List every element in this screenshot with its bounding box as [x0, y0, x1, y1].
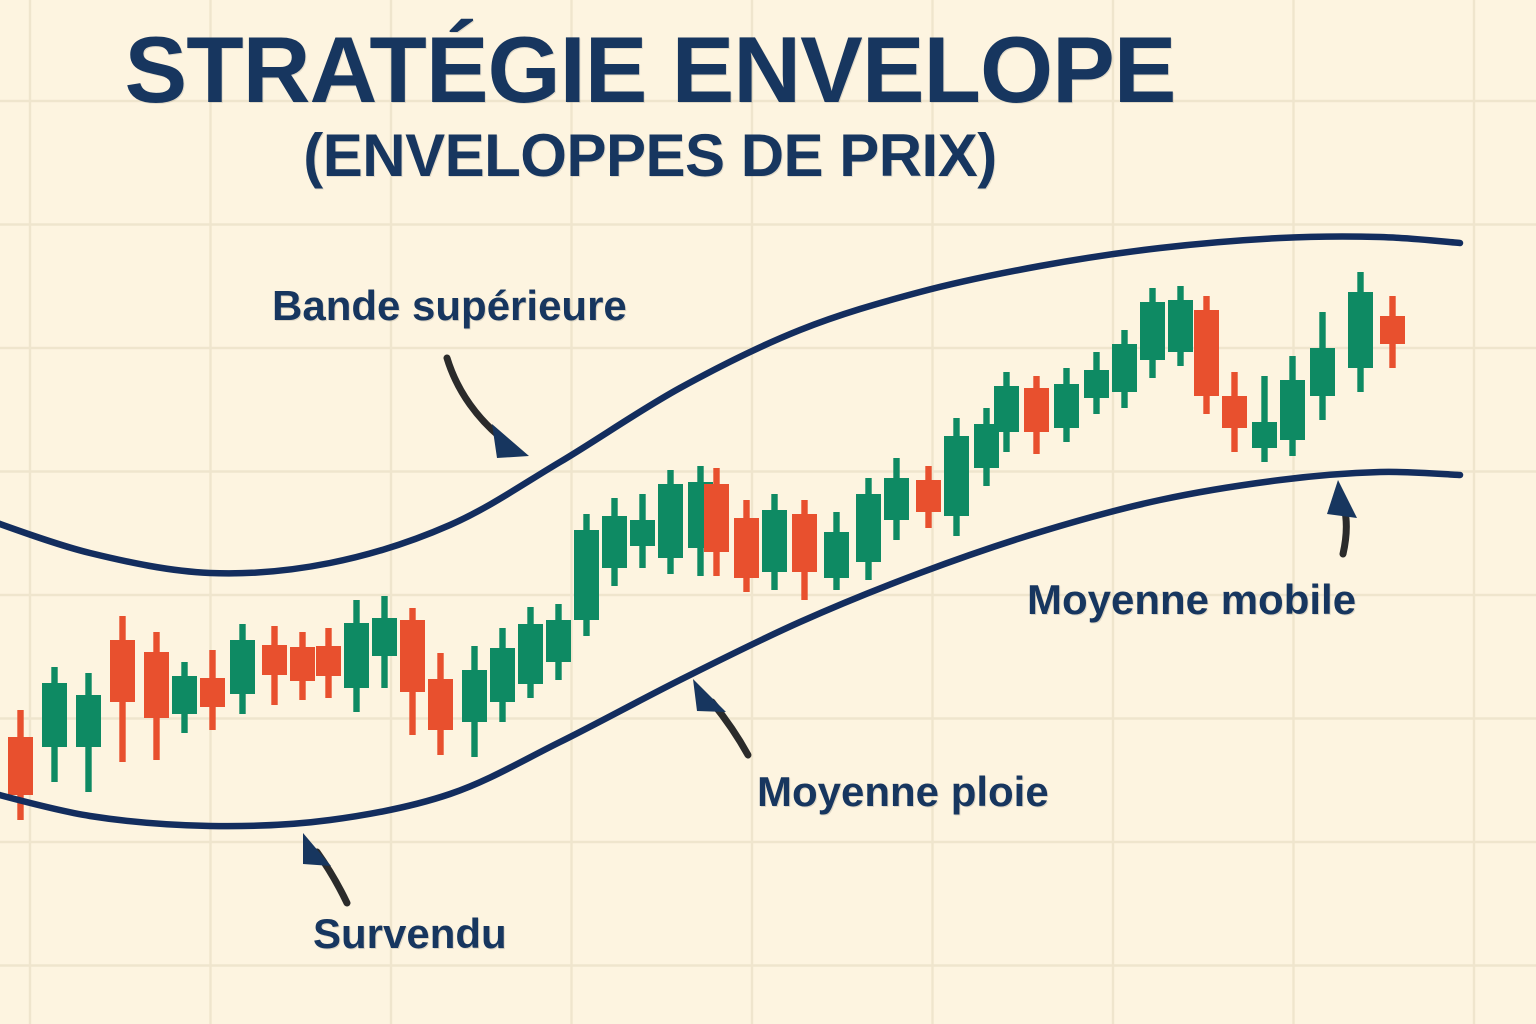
- arrow-tail-bande-superieure: [447, 358, 500, 437]
- annotation-label-upper-band: Bande supérieure: [272, 282, 627, 330]
- annotation-label-mean-bend: Moyenne ploie: [757, 768, 1049, 816]
- annotation-label-oversold: Survendu: [313, 910, 507, 958]
- arrow-head-moyenne-mobile: [1327, 480, 1357, 518]
- arrow-head-survendu: [303, 833, 331, 866]
- arrow-head-moyenne-ploie: [693, 679, 726, 712]
- chart-canvas: STRATÉGIE ENVELOPE (ENVELOPPES DE PRIX) …: [0, 0, 1536, 1024]
- annotation-arrow-layer: [0, 0, 1536, 1024]
- arrow-head-bande-superieure: [492, 424, 529, 458]
- annotation-label-moving-average: Moyenne mobile: [1027, 576, 1356, 624]
